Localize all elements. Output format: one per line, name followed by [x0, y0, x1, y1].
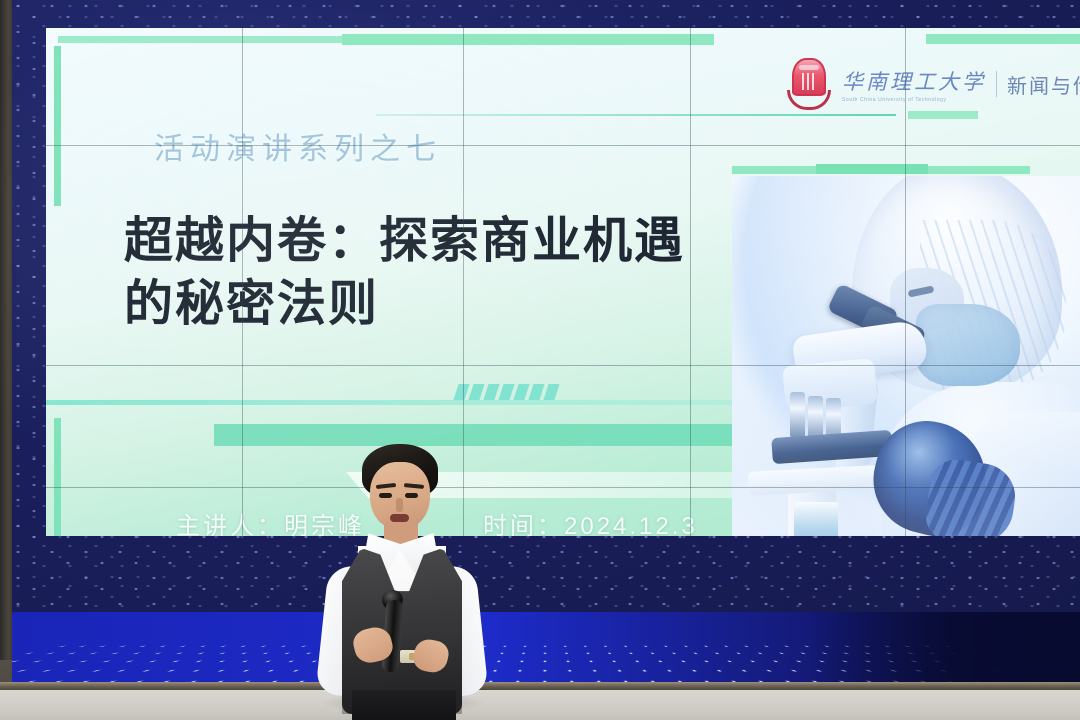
- photo-tint-overlay: [732, 176, 1080, 536]
- department-name: 新闻与传播学院: [1007, 70, 1080, 99]
- slide-title: 超越内卷：探索商业机遇 的秘密法则: [124, 210, 764, 336]
- slide-top-accent-bar-2: [342, 34, 714, 45]
- date-label: 时间：2024.12.3: [483, 506, 698, 536]
- presenter-eye: [405, 493, 418, 498]
- subtitle-rule: [376, 114, 896, 116]
- presentation-slide: 活动演讲系列之七 超越内卷：探索商业机遇 的秘密法则 华南理工大学: [46, 28, 1080, 536]
- photo-frame-top-bar-2: [816, 164, 928, 174]
- slide-title-line-1: 超越内卷：探索商业机遇: [124, 214, 685, 268]
- logo-divider: [996, 71, 997, 97]
- dash-segment: [468, 384, 484, 400]
- dash-segment: [528, 384, 544, 400]
- presenter-nose: [396, 498, 403, 512]
- slide-left-accent-bar-top: [54, 46, 61, 206]
- slide-title-line-2: 的秘密法则: [124, 273, 764, 336]
- dash-decoration: [456, 384, 557, 400]
- university-name-en: South China University of Technology: [842, 97, 986, 103]
- subtitle-rule-cap: [908, 111, 978, 119]
- lecture-hall-scene: 活动演讲系列之七 超越内卷：探索商业机遇 的秘密法则 华南理工大学: [0, 0, 1080, 720]
- slide-subtitle: 活动演讲系列之七: [154, 124, 442, 168]
- presenter-trousers: [352, 690, 456, 720]
- slide-top-accent-bar-1: [58, 36, 388, 43]
- slide-left-accent-bar-bottom: [54, 418, 61, 536]
- led-dot-matrix-band: [12, 612, 1080, 684]
- stage-floor: [0, 690, 1080, 720]
- dash-segment: [513, 384, 529, 400]
- university-name-cn: 华南理工大学: [842, 66, 986, 96]
- dash-segment: [483, 384, 499, 400]
- slide-top-accent-bar-3: [926, 34, 1080, 44]
- dash-segment: [498, 384, 514, 400]
- presenter-mouth: [390, 514, 409, 522]
- presenter-eye: [379, 493, 392, 498]
- university-logo-block: 华南理工大学 South China University of Technol…: [786, 56, 1080, 112]
- dash-segment: [543, 384, 559, 400]
- microscope-photo: [732, 176, 1080, 536]
- scut-emblem-icon: [786, 56, 832, 112]
- university-name-block: 华南理工大学 South China University of Technol…: [842, 66, 986, 103]
- dash-segment: [453, 384, 469, 400]
- presenter-figure: [300, 440, 500, 720]
- arc-shape: [787, 90, 831, 110]
